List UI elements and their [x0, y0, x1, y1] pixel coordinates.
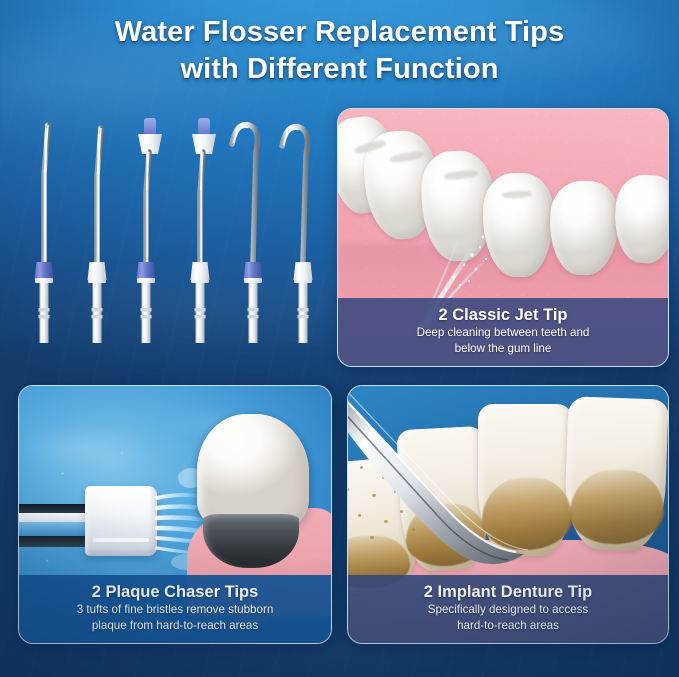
infographic-root: Water Flosser Replacement Tips with Diff… — [0, 0, 679, 677]
vignette-overlay — [0, 0, 679, 677]
